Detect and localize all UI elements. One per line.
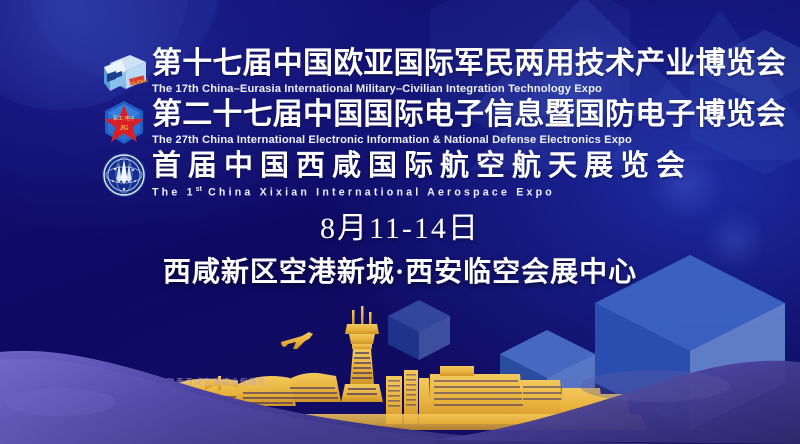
expo-poster: 陕西西咸空港综合保税区 <box>0 0 800 444</box>
title-cn-2: 第二十七届中国国际电子信息暨国防电子博览会 <box>152 100 786 130</box>
title-row-1: GUOHE 第十七届中国欧亚国际军民两用技术产业博览会 The 17th Chi… <box>96 46 716 98</box>
event-venue: 西咸新区空港新城·西安临空会展中心 <box>0 255 800 291</box>
foreground-hill <box>0 294 800 444</box>
title-row-2: 军工·电子 JG 第二十七届中国国际电子信息暨国防电子博览会 The 27th … <box>96 98 716 148</box>
title-en-3: The 1st China Xixian International Aeros… <box>152 186 716 198</box>
title-en-1: The 17th China–Eurasia International Mil… <box>152 84 786 95</box>
title-text-3: 首届中国西咸国际航空航天展览会 The 1st China Xixian Int… <box>152 152 716 198</box>
title-text-1: 第十七届中国欧亚国际军民两用技术产业博览会 The 17th China–Eur… <box>152 49 786 95</box>
title-en-2: The 27th China International Electronic … <box>152 135 786 146</box>
title-block: GUOHE 第十七届中国欧亚国际军民两用技术产业博览会 The 17th Chi… <box>96 46 716 202</box>
svg-text:JG: JG <box>119 124 129 132</box>
red-star-military-electronics-logo-icon: 军工·电子 JG <box>96 97 152 149</box>
title-row-3: 首届中国西咸国际航空航天展览会 The 1st China Xixian Int… <box>96 148 716 202</box>
title-cn-3: 首届中国西咸国际航空航天展览会 <box>152 152 716 181</box>
title-en-3-sup: st <box>196 186 202 193</box>
title-text-2: 第二十七届中国国际电子信息暨国防电子博览会 The 27th China Int… <box>152 100 786 146</box>
title-cn-1: 第十七届中国欧亚国际军民两用技术产业博览会 <box>152 49 786 79</box>
star-logo-text: 军工·电子 <box>113 114 135 122</box>
title-en-3-pre: The 1 <box>152 186 196 198</box>
event-info: 8月11-14日 西咸新区空港新城·西安临空会展中心 <box>0 212 800 291</box>
cube-box-logo-icon: GUOHE <box>96 46 152 98</box>
event-date: 8月11-14日 <box>0 212 800 247</box>
aerospace-circular-emblem-logo-icon <box>96 149 152 201</box>
title-en-3-post: China Xixian International Aerospace Exp… <box>208 186 555 198</box>
